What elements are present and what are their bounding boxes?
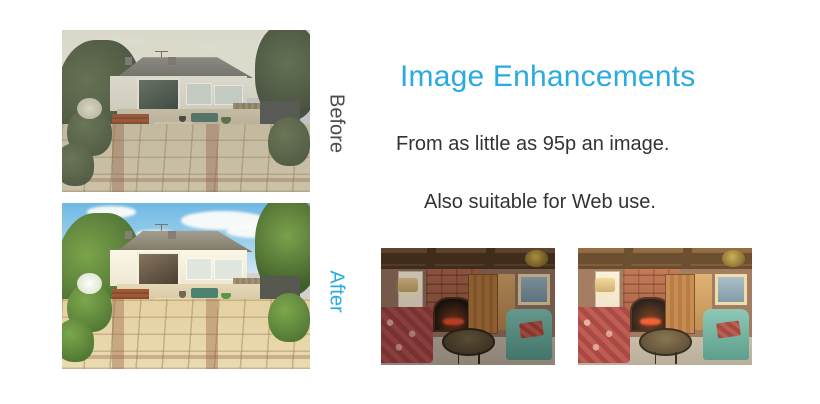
interior-after-scene: [578, 248, 752, 365]
label-before: Before: [325, 74, 348, 174]
colour-grade: [62, 203, 310, 369]
colour-grade: [578, 248, 752, 365]
exterior-after-scene: [62, 203, 310, 369]
photo-interior-before[interactable]: [381, 248, 555, 365]
colour-grade: [381, 248, 555, 365]
flat-contrast-overlay: [62, 30, 310, 192]
page-title: Image Enhancements: [400, 60, 695, 94]
exterior-before-scene: [62, 30, 310, 192]
photo-exterior-after[interactable]: [62, 203, 310, 369]
photo-exterior-before[interactable]: [62, 30, 310, 192]
interior-before-scene: [381, 248, 555, 365]
price-line: From as little as 95p an image.: [396, 133, 669, 156]
slide-canvas: Before After Image Enhancements From as …: [0, 0, 820, 404]
photo-interior-after[interactable]: [578, 248, 752, 365]
label-after: After: [325, 248, 348, 336]
web-use-line: Also suitable for Web use.: [424, 191, 656, 214]
